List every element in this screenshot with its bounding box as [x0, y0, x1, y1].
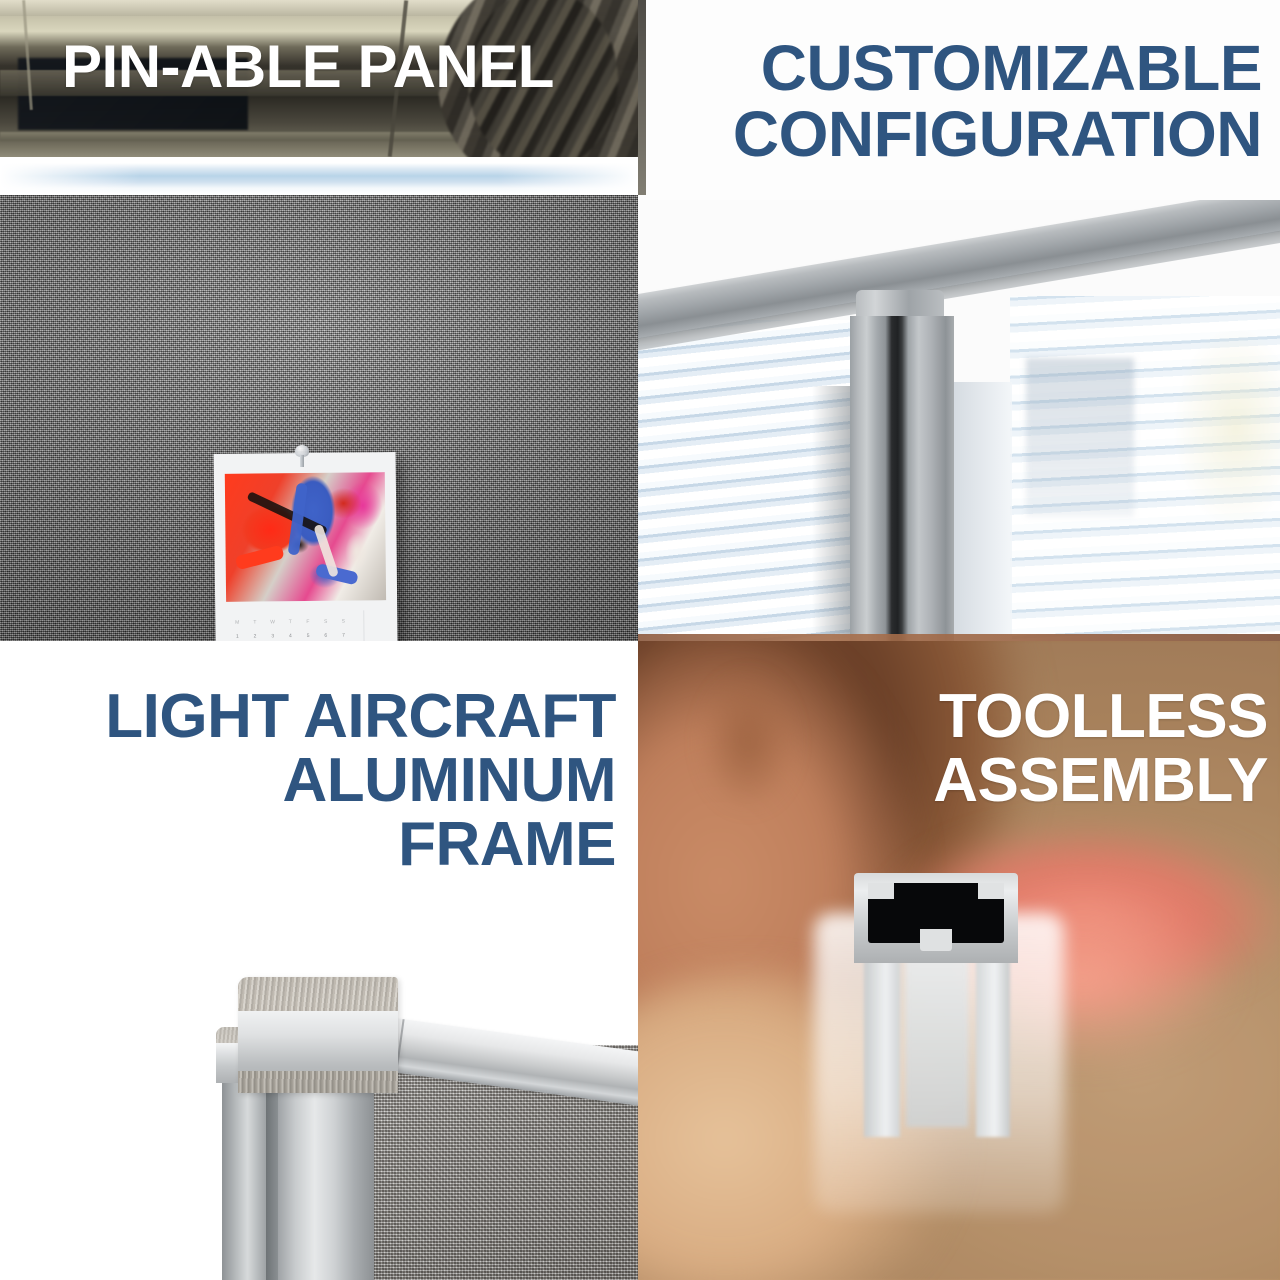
- post-right-glass: [954, 382, 1012, 641]
- floor-line: [638, 634, 1280, 641]
- pinned-calendar: M T W T F S S 1 2 3 4 5 6: [214, 452, 399, 641]
- calendar-weekday: M: [228, 616, 246, 630]
- calendar-day: 4: [281, 629, 299, 641]
- calendar-artwork: [225, 472, 386, 602]
- panel-customizable-configuration: CUSTOMIZABLE CONFIGURATION: [638, 0, 1280, 641]
- caption-line-2: CONFIGURATION: [733, 98, 1262, 170]
- panel-pin-able-panel: M T W T F S S 1 2 3 4 5 6: [0, 0, 638, 641]
- caption-line-1: LIGHT AIRCRAFT: [105, 682, 616, 751]
- calendar-week-row: 1 2 3 4 5 6 7: [228, 629, 352, 641]
- left-edge-strip: [638, 0, 646, 195]
- caption-toolless-assembly: TOOLLESS ASSEMBLY: [658, 685, 1268, 813]
- calendar-weekday: S: [317, 615, 335, 629]
- window-blinds-right: [1010, 296, 1280, 641]
- corner-grain-top: [238, 977, 398, 1011]
- light-fixture-band: [0, 157, 638, 195]
- post-body: [850, 316, 954, 641]
- post-left-shadow: [812, 386, 852, 641]
- caption-customizable-configuration: CUSTOMIZABLE CONFIGURATION: [652, 36, 1262, 168]
- extrusion-right-leg: [976, 957, 1010, 1137]
- corner-post: [850, 290, 954, 641]
- panel-toolless-assembly: TOOLLESS ASSEMBLY: [638, 641, 1280, 1280]
- push-pin-needle: [300, 455, 304, 467]
- calendar-weekday-row: M T W T F S S: [228, 615, 352, 630]
- aluminum-vertical-post: [278, 1063, 374, 1280]
- paint-stroke: [234, 544, 284, 570]
- aluminum-secondary-post: [222, 1073, 266, 1280]
- calendar-day: 3: [264, 629, 282, 641]
- calendar-day: 2: [246, 629, 264, 641]
- feature-collage: M T W T F S S 1 2 3 4 5 6: [0, 0, 1280, 1280]
- extrusion-top-face: [854, 873, 1018, 963]
- building-silhouette: [1026, 358, 1134, 517]
- partition-photo: [638, 200, 1280, 641]
- calendar-day: 6: [317, 629, 335, 641]
- calendar-weekday: T: [281, 615, 299, 629]
- corner-grain-bottom: [238, 1071, 398, 1093]
- push-pin-icon: [291, 445, 313, 467]
- aluminum-extrusion-channel: [854, 873, 1018, 1173]
- caption-line-2: ASSEMBLY: [658, 749, 1268, 813]
- calendar-day: 5: [299, 629, 317, 641]
- caption-pin-able-panel: PIN-ABLE PANEL: [62, 36, 554, 98]
- extrusion-slot-lip-left: [868, 883, 894, 899]
- calendar-day: 7: [335, 629, 353, 641]
- extrusion-center-tab: [920, 929, 952, 951]
- post-gap-shadow: [266, 1079, 278, 1280]
- aluminum-corner-block: [238, 977, 398, 1093]
- panel-light-aircraft-aluminum-frame: LIGHT AIRCRAFT ALUMINUM FRAME: [0, 641, 638, 1280]
- caption-line-3: FRAME: [398, 810, 616, 879]
- extrusion-slot-lip-right: [978, 883, 1004, 899]
- calendar-month-label: FEBRUARY: [363, 614, 388, 641]
- calendar-grid: M T W T F S S 1 2 3 4 5 6: [228, 615, 353, 641]
- extrusion-left-leg: [864, 957, 900, 1137]
- calendar-weekday: T: [246, 615, 264, 629]
- caption-light-aircraft-aluminum-frame: LIGHT AIRCRAFT ALUMINUM FRAME: [10, 685, 616, 877]
- caption-line-1: CUSTOMIZABLE: [761, 32, 1262, 104]
- caption-line-1: TOOLLESS: [658, 685, 1268, 749]
- calendar-weekday: W: [264, 615, 282, 629]
- window-glow: [1132, 331, 1280, 573]
- calendar-weekday: F: [299, 615, 317, 629]
- calendar-day: 1: [228, 630, 246, 641]
- caption-line-2: ALUMINUM: [283, 746, 617, 815]
- extrusion-mid-web: [906, 957, 968, 1127]
- frame-closeup-photo: [160, 903, 638, 1280]
- calendar-weekday: S: [334, 615, 352, 629]
- fabric-tackable-panel: M T W T F S S 1 2 3 4 5 6: [0, 195, 638, 641]
